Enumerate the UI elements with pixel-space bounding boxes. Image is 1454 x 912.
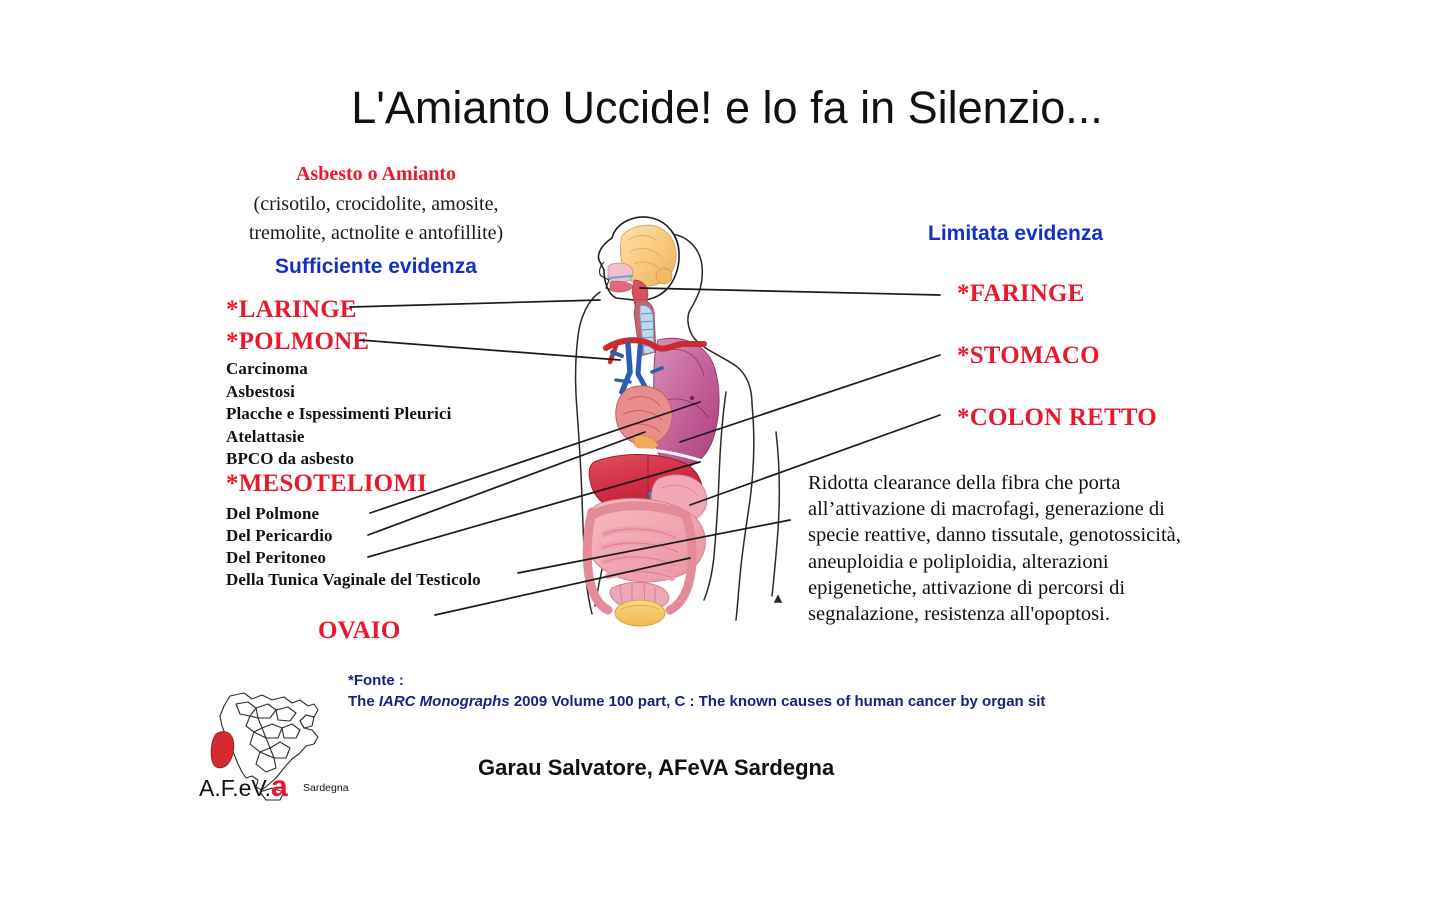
label-stomach: *STOMACO: [957, 342, 1100, 370]
leader-meso-testis: [518, 520, 790, 573]
list-item: Placche e Ispessimenti Pleurici: [226, 403, 451, 426]
mesothelioma-sites-list: Del Polmone Del Pericardio Del Peritoneo…: [226, 503, 481, 591]
logo-prefix: A.F.eV.: [199, 775, 271, 801]
label-ovary: OVAIO: [318, 617, 401, 645]
asbestos-heading: Asbesto o Amianto: [196, 163, 556, 186]
leader-lung: [360, 340, 620, 360]
leader-stomach: [680, 355, 940, 442]
label-mesothelioma: *MESOTELIOMI: [226, 470, 427, 498]
source-post: 2009 Volume 100 part, C : The known caus…: [510, 693, 1046, 710]
sardinia-highlight: [211, 732, 234, 768]
list-item: Atelattasie: [226, 426, 451, 449]
logo-accent-letter: a: [271, 770, 288, 803]
leader-larynx: [350, 300, 600, 307]
slide-canvas: L'Amianto Uccide! e lo fa in Silenzio...: [0, 0, 1454, 912]
asbestos-types: (crisotilo, crocidolite, amosite, tremol…: [186, 190, 566, 248]
asbestos-types-line2: tremolite, actnolite e antofillite): [186, 219, 566, 248]
label-pharynx: *FARINGE: [957, 280, 1085, 308]
list-item: BPCO da asbesto: [226, 448, 451, 471]
list-item: Del Pericardio: [226, 525, 481, 547]
logo-region: Sardegna: [303, 782, 349, 794]
list-item: Del Peritoneo: [226, 547, 481, 569]
list-item: Del Polmone: [226, 503, 481, 525]
page-title: L'Amianto Uccide! e lo fa in Silenzio...: [0, 82, 1454, 134]
limited-evidence-heading: Limitata evidenza: [928, 222, 1103, 246]
list-item: Asbestosi: [226, 381, 451, 404]
label-larynx: *LARINGE: [226, 296, 357, 324]
source-italic-title: IARC Monographs: [379, 693, 510, 710]
asbestos-types-line1: (crisotilo, crocidolite, amosite,: [186, 190, 566, 219]
label-lung: *POLMONE: [226, 328, 369, 356]
sufficient-evidence-heading: Sufficiente evidenza: [196, 255, 556, 279]
source-citation: *Fonte : The IARC Monographs 2009 Volume…: [348, 670, 1045, 712]
source-reference: The IARC Monographs 2009 Volume 100 part…: [348, 691, 1045, 712]
lung-conditions-list: Carcinoma Asbestosi Placche e Ispessimen…: [226, 358, 451, 471]
list-item: Della Tunica Vaginale del Testicolo: [226, 569, 481, 591]
leader-pharynx: [640, 288, 940, 295]
logo-wordmark: A.F.eV.a: [199, 770, 288, 804]
source-label: *Fonte :: [348, 670, 1045, 691]
list-item: Carcinoma: [226, 358, 451, 381]
author-line: Garau Salvatore, AFeVA Sardegna: [478, 755, 834, 781]
mechanism-paragraph: Ridotta clearance della fibra che porta …: [808, 470, 1220, 627]
label-colon-rectum: *COLON RETTO: [957, 404, 1157, 432]
